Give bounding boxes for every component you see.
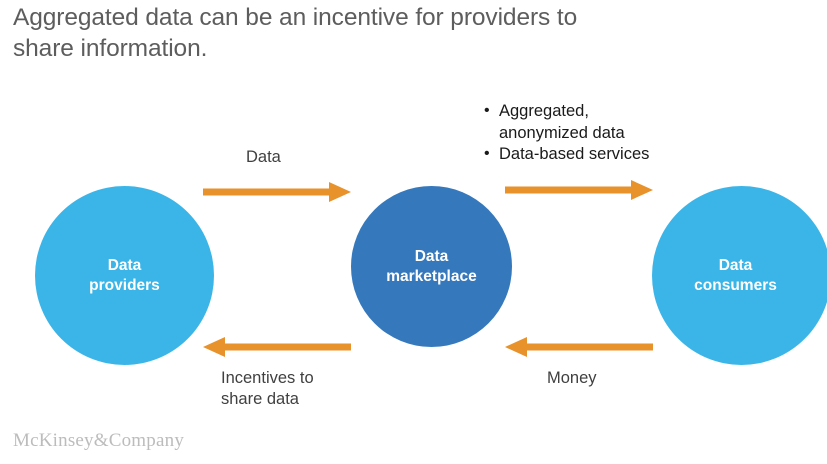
page-title: Aggregated data can be an incentive for …: [13, 2, 773, 64]
arrow-left-money: [505, 336, 653, 358]
arrow-right-data: [203, 181, 351, 203]
flow-label-money: Money: [547, 368, 597, 389]
flow-label-incentives: Incentives to share data: [221, 368, 314, 410]
node-data-consumers: Data consumers: [652, 186, 827, 365]
node-label-data-consumers: Data consumers: [694, 256, 777, 296]
bullet-list: Aggregated, anonymized data Data-based s…: [483, 101, 713, 166]
bullet-item-aggregated: Aggregated, anonymized data: [483, 101, 713, 144]
bullet-item-data-based-services: Data-based services: [483, 144, 713, 166]
node-label-data-providers: Data providers: [89, 256, 160, 296]
slide-canvas: Aggregated data can be an incentive for …: [0, 0, 827, 464]
node-data-marketplace: Data marketplace: [351, 186, 512, 347]
arrow-right-aggregated-data: [505, 179, 653, 201]
node-data-providers: Data providers: [35, 186, 214, 365]
node-label-data-marketplace: Data marketplace: [386, 247, 476, 287]
arrow-left-incentives: [203, 336, 351, 358]
mckinsey-logo: McKinsey&Company: [13, 430, 184, 452]
flow-label-data: Data: [246, 147, 281, 168]
flow-annotation-bullets: Aggregated, anonymized data Data-based s…: [483, 101, 713, 166]
